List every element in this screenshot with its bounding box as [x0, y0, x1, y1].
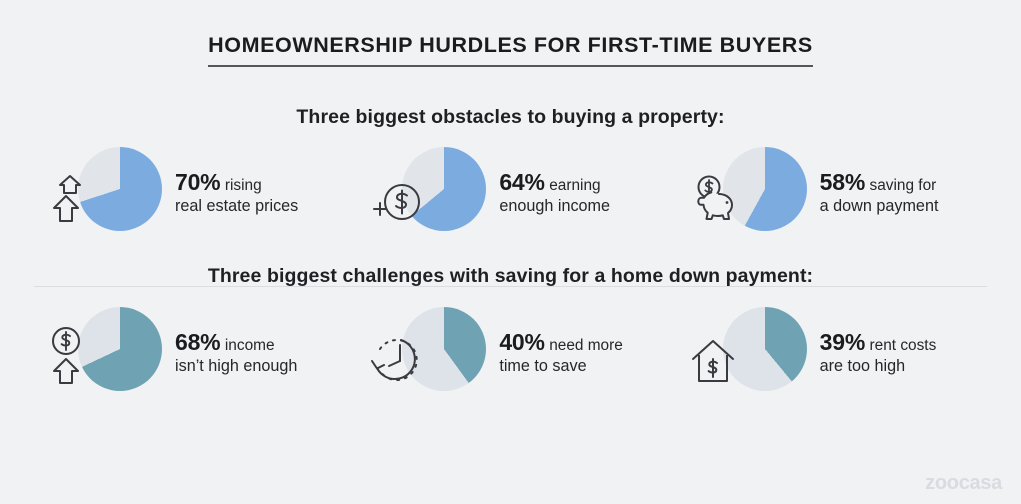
stat-label-block: 40% need more time to save: [499, 329, 622, 376]
viz-cluster: [368, 305, 486, 401]
stat-label-line-2: are too high: [820, 357, 906, 375]
section-divider: [34, 286, 987, 287]
stat-label-line-2: real estate prices: [175, 197, 298, 215]
section-1-stat-row: 70% rising real estate prices: [0, 145, 1021, 241]
stat-line-1: 70% rising: [175, 169, 298, 197]
stat-label-block: 58% saving for a down payment: [820, 169, 939, 216]
dollar-coin-up-arrow-icon: [44, 323, 106, 385]
stat-percent: 64%: [499, 169, 544, 195]
viz-cluster: [44, 305, 162, 401]
stat-label-block: 70% rising real estate prices: [175, 169, 298, 216]
section-2-stat-row: 68% income isn’t high enough: [0, 305, 1021, 401]
stat-line-1: 64% earning: [499, 169, 610, 197]
stat-label-line-1: saving for: [870, 177, 937, 194]
stat-line-2: real estate prices: [175, 197, 298, 217]
stat-label-block: 39% rent costs are too high: [820, 329, 937, 376]
infographic-page: { "header": { "title": "HOMEOWNERSHIP HU…: [0, 0, 1021, 504]
house-dollar-icon: [689, 323, 751, 385]
stat-label-line-1: rising: [225, 177, 262, 194]
stat-line-2: isn’t high enough: [175, 357, 297, 377]
stat-item-rent-costs-are-too-high: 39% rent costs are too high: [683, 305, 1003, 401]
stat-line-2: enough income: [499, 197, 610, 217]
stat-item-earning-enough-income: 64% earning enough income: [358, 145, 682, 241]
section-2-heading: Three biggest challenges with saving for…: [0, 265, 1021, 288]
title-container: HOMEOWNERSHIP HURDLES FOR FIRST-TIME BUY…: [0, 0, 1021, 67]
stat-line-1: 68% income: [175, 329, 297, 357]
zoocasa-logo: zoocasa: [925, 472, 1002, 495]
stat-line-1: 40% need more: [499, 329, 622, 357]
clock-rewind-icon: [368, 323, 430, 385]
viz-cluster: [368, 145, 486, 241]
dollar-coin-plus-icon: [368, 163, 430, 225]
stat-item-need-more-time-to-save: 40% need more time to save: [358, 305, 682, 401]
stat-line-2: a down payment: [820, 197, 939, 217]
stat-line-1: 58% saving for: [820, 169, 939, 197]
stat-label-line-1: rent costs: [870, 337, 937, 354]
stat-label-line-1: need more: [549, 337, 623, 354]
stat-percent: 40%: [499, 329, 544, 355]
section-1-heading: Three biggest obstacles to buying a prop…: [0, 106, 1021, 129]
viz-cluster: [44, 145, 162, 241]
stat-percent: 68%: [175, 329, 220, 355]
stat-line-2: time to save: [499, 357, 622, 377]
stat-label-line-2: time to save: [499, 357, 586, 375]
page-title: HOMEOWNERSHIP HURDLES FOR FIRST-TIME BUY…: [208, 33, 813, 67]
stat-line-2: are too high: [820, 357, 937, 377]
stat-item-saving-for-a-down-payment: 58% saving for a down payment: [683, 145, 1003, 241]
stat-line-1: 39% rent costs: [820, 329, 937, 357]
piggy-bank-icon: [689, 163, 751, 225]
stat-label-line-2: isn’t high enough: [175, 357, 297, 375]
stat-percent: 58%: [820, 169, 865, 195]
stat-label-block: 64% earning enough income: [499, 169, 610, 216]
stat-percent: 39%: [820, 329, 865, 355]
stat-label-line-1: income: [225, 337, 275, 354]
house-up-arrow-icon: [44, 163, 106, 225]
stat-percent: 70%: [175, 169, 220, 195]
viz-cluster: [689, 305, 807, 401]
viz-cluster: [689, 145, 807, 241]
stat-label-block: 68% income isn’t high enough: [175, 329, 297, 376]
stat-label-line-1: earning: [549, 177, 600, 194]
stat-label-line-2: a down payment: [820, 197, 939, 215]
stat-label-line-2: enough income: [499, 197, 610, 215]
stat-item-rising-real-estate-prices: 70% rising real estate prices: [18, 145, 358, 241]
stat-item-income-isnt-high-enough: 68% income isn’t high enough: [18, 305, 358, 401]
